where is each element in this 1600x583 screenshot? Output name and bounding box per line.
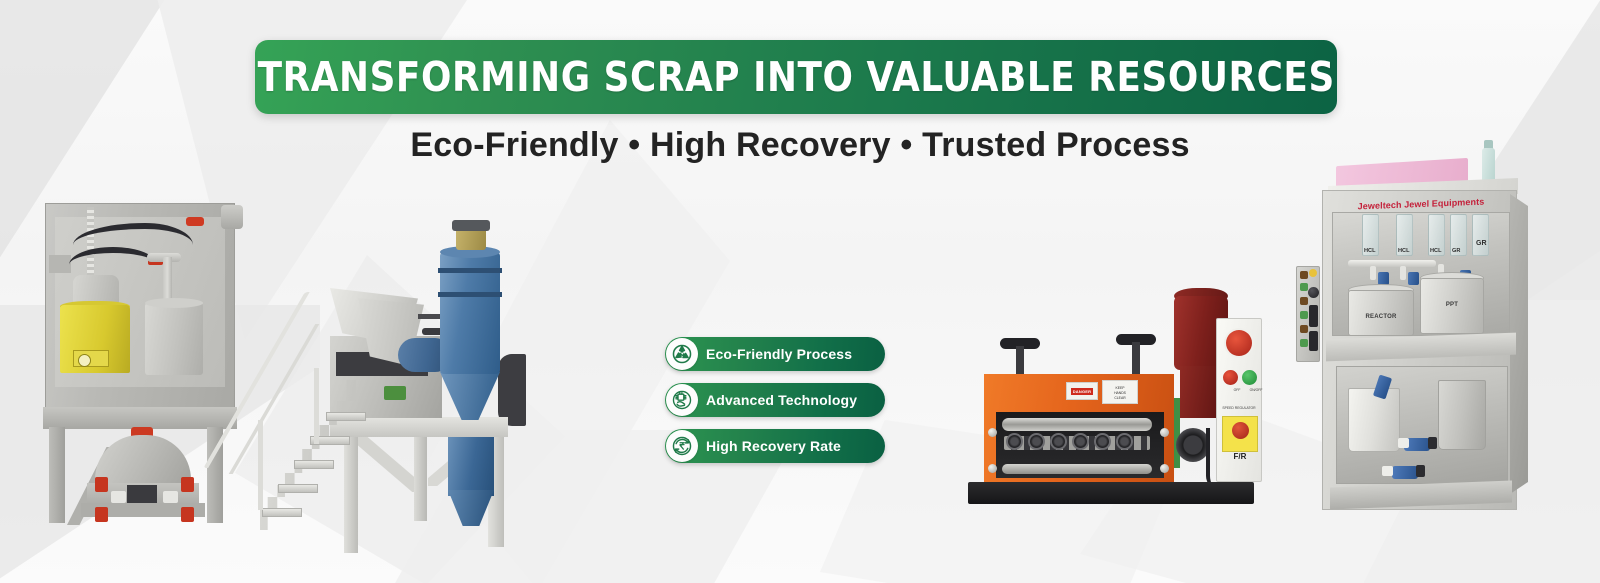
- m2-step-2: [278, 484, 318, 493]
- m2-green-guard: [384, 386, 406, 400]
- m2-rail-post-2: [314, 368, 319, 444]
- m3-selector-knob[interactable]: [1232, 422, 1249, 439]
- m2-leg-b: [414, 435, 427, 521]
- m4-nozzle-2: [1400, 266, 1406, 280]
- m2-brace-left: [352, 432, 422, 492]
- feature-pill-eco-friendly-process[interactable]: Eco-Friendly Process: [665, 337, 885, 371]
- m2-drive-wheel: [498, 354, 526, 426]
- m1-bracket: [49, 255, 71, 273]
- m3-bolt-2: [988, 464, 997, 473]
- m3-bolt-1: [988, 428, 997, 437]
- m3-on-button[interactable]: [1242, 370, 1257, 385]
- m2-leg-a: [344, 435, 358, 553]
- m3-base-plate: [968, 482, 1254, 504]
- feature-pill-advanced-technology[interactable]: Advanced Technology: [665, 383, 885, 417]
- m4-indicator-lamp-green-1: [1300, 283, 1308, 291]
- m2-cyclone-cone: [440, 372, 500, 420]
- m1-side-outlet-pipe: [221, 205, 243, 229]
- m3-adjust-knob-left-stem: [1016, 346, 1024, 376]
- m4-indicator-lamp-green-2: [1300, 311, 1308, 319]
- m4-pump-fitting-1: [1398, 438, 1409, 448]
- m3-danger-text: DANGER: [1071, 388, 1094, 395]
- headline-text: TRANSFORMING SCRAP INTO VALUABLE RESOURC…: [257, 53, 1334, 101]
- m1-pump-valve-2: [181, 477, 194, 492]
- subheadline-text: Eco-Friendly • High Recovery • Trusted P…: [0, 126, 1600, 165]
- m3-feed-roller-top: [1002, 418, 1152, 431]
- m3-emergency-stop-button[interactable]: [1226, 330, 1252, 356]
- m3-speed-regulator-label: SPEED REGULATOR: [1219, 406, 1259, 410]
- recycle-icon: [666, 338, 698, 370]
- m1-fitting-2: [163, 491, 178, 503]
- m2-cyclone-band-1: [438, 268, 502, 273]
- feature-pill-label: Eco-Friendly Process: [706, 346, 852, 362]
- m1-red-valve-top: [186, 217, 204, 226]
- m4-label-gr-2: GR: [1476, 240, 1487, 247]
- m1-shelf: [43, 407, 237, 429]
- m4-indicator-lamp-amber: [1309, 269, 1317, 277]
- m4-pump-fitting-2: [1382, 466, 1393, 476]
- m3-feed-roller-bottom: [1002, 464, 1152, 474]
- m3-gear-4: [1072, 433, 1089, 450]
- m2-motor-cover: [452, 220, 490, 231]
- m2-cyclone-motor: [456, 228, 486, 250]
- m1-leg-left: [49, 427, 65, 523]
- rupee-refresh-icon: [666, 430, 698, 462]
- feature-pill-label: Advanced Technology: [706, 392, 857, 408]
- m4-collection-bucket-1: [1348, 388, 1400, 452]
- m4-nozzle-1: [1370, 266, 1376, 280]
- m3-bolt-4: [1160, 464, 1169, 473]
- m3-gear-5: [1094, 433, 1111, 450]
- m4-panel-knob-1[interactable]: [1308, 287, 1319, 298]
- feature-pill-list: Eco-Friendly Process Advanced Technology: [665, 337, 885, 463]
- m3-gear-6: [1116, 433, 1133, 450]
- m4-panel-switch-1[interactable]: [1309, 305, 1318, 327]
- feature-pill-high-recovery-rate[interactable]: High Recovery Rate: [665, 429, 885, 463]
- m3-selector-label: F/R: [1222, 452, 1258, 461]
- m4-panel-switch-2[interactable]: [1309, 331, 1318, 351]
- m4-transfer-pump-2: [1392, 466, 1418, 479]
- headline-banner: TRANSFORMING SCRAP INTO VALUABLE RESOURC…: [255, 40, 1337, 114]
- m4-brand-label: Jeweltech Jewel Equipments: [1358, 196, 1485, 211]
- m4-indicator-lamp-green-3: [1300, 339, 1308, 347]
- m4-distribution-manifold: [1348, 260, 1436, 267]
- m4-valve-2: [1408, 272, 1419, 285]
- m3-notice-line-3: CLEAR: [1103, 396, 1137, 401]
- m3-gear-2: [1028, 433, 1045, 450]
- m4-indicator-lamp-1: [1300, 271, 1308, 279]
- m1-diaphragm-pump: [95, 435, 191, 487]
- m2-rail-post-1: [258, 420, 263, 510]
- m1-pump-valve-4: [181, 507, 194, 522]
- m1-pump-valve-1: [95, 477, 108, 492]
- m4-control-panel[interactable]: [1296, 266, 1320, 362]
- m4-reactor-tank: [1348, 290, 1414, 336]
- m3-btn-right-label: ON/OFF: [1236, 388, 1276, 392]
- m4-ppt-label: PPT: [1420, 302, 1484, 308]
- m4-reactor-label: REACTOR: [1348, 314, 1414, 320]
- m4-pump-motor-2: [1416, 465, 1425, 477]
- machine-photo-shredder-granulator: [252, 232, 527, 540]
- m1-drum-gauge: [73, 350, 109, 367]
- hero-banner: DANGER KEEP HANDS CLEAR OFF ON/OFF S: [0, 0, 1600, 583]
- m1-fitting-1: [111, 491, 126, 503]
- m4-indicator-lamp-3: [1300, 325, 1308, 333]
- machine-photo-wire-stripping-machine: DANGER KEEP HANDS CLEAR OFF ON/OFF S: [968, 278, 1268, 514]
- m1-filter-cylinder: [145, 303, 203, 375]
- machine-photo-chemical-recovery-unit: [35, 195, 245, 530]
- m1-pump-valve-3: [95, 507, 108, 522]
- circuit-chip-icon: [666, 384, 698, 416]
- feature-pill-label: High Recovery Rate: [706, 438, 841, 454]
- m4-label-hcl-1: HCL: [1364, 248, 1376, 254]
- m3-off-button[interactable]: [1223, 370, 1238, 385]
- m4-label-gr-1: GR: [1452, 248, 1460, 254]
- machine-photo-jeweltech-refining-cabinet: Jeweltech Jewel Equipments HCL HCL HCL G…: [1300, 148, 1545, 530]
- m3-danger-sticker: DANGER: [1066, 382, 1098, 400]
- m4-label-hcl-2: HCL: [1398, 248, 1410, 254]
- m3-bolt-3: [1160, 428, 1169, 437]
- m2-cyclone-band-2: [438, 292, 502, 297]
- m3-gear-3: [1050, 433, 1067, 450]
- m4-indicator-lamp-2: [1300, 297, 1308, 305]
- m3-adjust-knob-right-stem: [1132, 342, 1140, 376]
- m4-reagent-column-5: [1472, 214, 1489, 256]
- m4-label-hcl-3: HCL: [1430, 248, 1442, 254]
- m3-gear-1: [1006, 433, 1023, 450]
- m2-step-1: [262, 508, 302, 517]
- m4-collection-bucket-2: [1438, 380, 1486, 450]
- m3-belt-pulley: [1176, 428, 1210, 462]
- m3-notice-sticker: KEEP HANDS CLEAR: [1102, 380, 1138, 404]
- m4-pump-motor-1: [1428, 437, 1437, 449]
